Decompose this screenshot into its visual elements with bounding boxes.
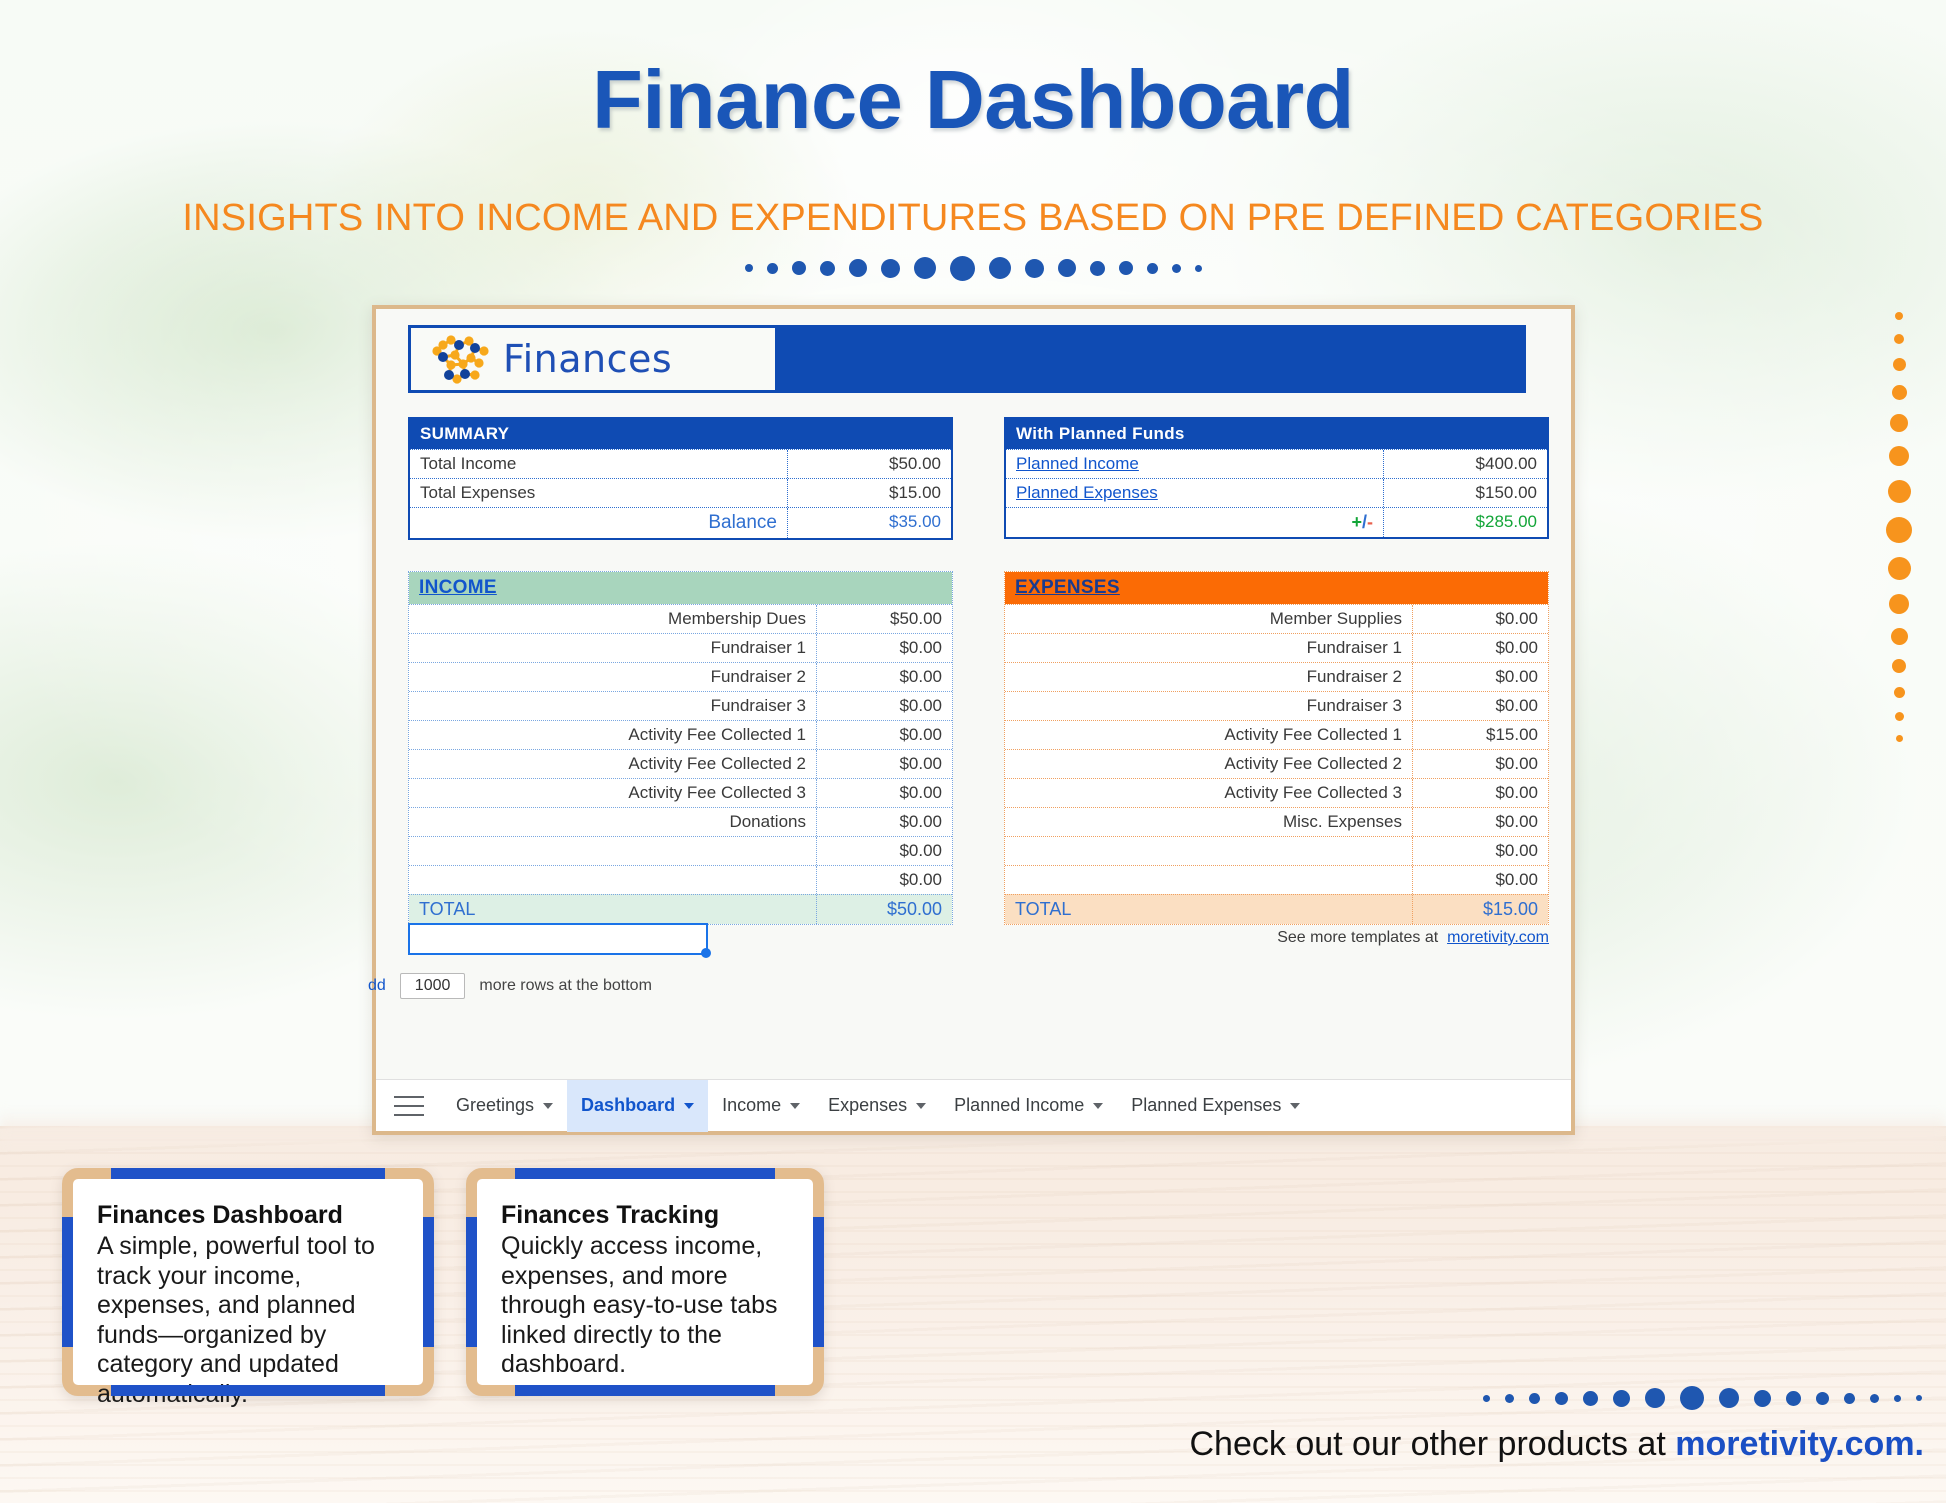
decorative-dot — [1680, 1386, 1704, 1410]
table-row[interactable]: Fundraiser 1$0.00 — [409, 633, 952, 662]
table-row[interactable]: Activity Fee Collected 1$0.00 — [409, 720, 952, 749]
decorative-dot — [1889, 594, 1909, 614]
decorative-dot — [1890, 414, 1908, 432]
decorative-dot — [1894, 687, 1905, 698]
income-total-label: TOTAL — [409, 895, 817, 924]
table-row[interactable]: Activity Fee Collected 3$0.00 — [1005, 778, 1548, 807]
minus-sign: - — [1367, 512, 1373, 532]
sheet-tab-income[interactable]: Income — [708, 1080, 814, 1132]
income-table: INCOME Membership Dues$50.00Fundraiser 1… — [408, 571, 953, 925]
sheet-tab-expenses[interactable]: Expenses — [814, 1080, 940, 1132]
table-row[interactable]: Fundraiser 3$0.00 — [1005, 691, 1548, 720]
income-total-row: TOTAL $50.00 — [409, 894, 952, 924]
decorative-dot — [1555, 1392, 1568, 1405]
row-value: $0.00 — [1413, 605, 1548, 633]
network-logo-icon — [429, 331, 493, 387]
sheet-tab-greetings[interactable]: Greetings — [442, 1080, 567, 1132]
moretivity-link[interactable]: moretivity.com — [1447, 929, 1549, 946]
row-value: $0.00 — [1413, 634, 1548, 662]
add-label[interactable]: dd — [368, 977, 386, 995]
row-value: $0.00 — [1413, 692, 1548, 720]
table-row[interactable]: Fundraiser 2$0.00 — [409, 662, 952, 691]
chevron-down-icon[interactable] — [1093, 1103, 1103, 1109]
decorative-dot — [1195, 265, 1202, 272]
decorative-dot — [767, 263, 778, 274]
decorative-dot — [1916, 1395, 1922, 1401]
planned-difference-value: $285.00 — [1384, 508, 1547, 537]
decorative-dot — [1058, 259, 1076, 277]
plus-sign: + — [1351, 512, 1362, 532]
selected-cell[interactable] — [408, 923, 708, 955]
decorative-dot — [792, 261, 806, 275]
planned-title: With Planned Funds — [1006, 419, 1547, 449]
table-row[interactable]: Donations$0.00 — [409, 807, 952, 836]
row-label: Fundraiser 1 — [409, 634, 817, 662]
spreadsheet-screenshot: Finances SUMMARY Total Income $50.00 Tot… — [372, 305, 1575, 1135]
row-value: $0.00 — [817, 750, 952, 778]
decorative-dot — [1119, 261, 1133, 275]
row-label: Misc. Expenses — [1005, 808, 1413, 836]
decorative-dot — [1816, 1392, 1829, 1405]
row-label: Donations — [409, 808, 817, 836]
decorative-dot — [1090, 261, 1105, 276]
summary-row-value: $15.00 — [788, 479, 951, 507]
promo-prefix: Check out our other products at — [1190, 1425, 1676, 1463]
decorative-dot — [1172, 264, 1181, 273]
card-title: Finances Tracking — [501, 1201, 789, 1230]
decorative-dot — [914, 257, 936, 279]
feature-card-dashboard: Finances Dashboard A simple, powerful to… — [62, 1168, 434, 1396]
sheet-tab-planned-expenses[interactable]: Planned Expenses — [1117, 1080, 1314, 1132]
row-value: $15.00 — [1413, 721, 1548, 749]
decorative-dot — [1147, 263, 1158, 274]
decorative-dot — [1891, 628, 1908, 645]
expenses-rows: Member Supplies$0.00Fundraiser 1$0.00Fun… — [1005, 604, 1548, 894]
table-row[interactable]: $0.00 — [1005, 865, 1548, 894]
decorative-dot — [1025, 259, 1044, 278]
planned-expenses-link[interactable]: Planned Expenses — [1016, 483, 1158, 502]
sheet-tab-dashboard[interactable]: Dashboard — [567, 1080, 708, 1132]
decorative-dot — [820, 261, 835, 276]
row-value: $0.00 — [817, 808, 952, 836]
row-label: Activity Fee Collected 3 — [1005, 779, 1413, 807]
sheet-tab-label: Income — [722, 1095, 781, 1116]
sheet-tabs: GreetingsDashboardIncomeExpensesPlanned … — [442, 1080, 1314, 1132]
sheet-tab-label: Dashboard — [581, 1095, 675, 1116]
decorative-dot — [1896, 735, 1903, 742]
sheet-tab-label: Planned Income — [954, 1095, 1084, 1116]
row-label: Fundraiser 3 — [409, 692, 817, 720]
decorative-dot — [1754, 1390, 1771, 1407]
summary-row-value: $50.00 — [788, 450, 951, 478]
planned-row-value: $400.00 — [1384, 450, 1547, 478]
table-row-balance[interactable]: Balance $35.00 — [410, 507, 951, 538]
decorative-dot-column — [1886, 312, 1912, 742]
add-rows-input[interactable]: 1000 — [400, 973, 466, 999]
decorative-dot — [1894, 1395, 1901, 1402]
decorative-dot — [1895, 712, 1904, 721]
chevron-down-icon[interactable] — [684, 1103, 694, 1109]
table-row[interactable]: Planned Income $400.00 — [1006, 449, 1547, 478]
summary-title: SUMMARY — [410, 419, 951, 449]
decorative-dot — [1894, 334, 1904, 344]
decorative-dot — [950, 256, 975, 281]
card-bar-right — [423, 1217, 434, 1347]
planned-income-link[interactable]: Planned Income — [1016, 454, 1139, 473]
row-label — [1005, 837, 1413, 865]
page-subtitle: INSIGHTS INTO INCOME AND EXPENDITURES BA… — [0, 197, 1946, 240]
expenses-table: EXPENSES Member Supplies$0.00Fundraiser … — [1004, 571, 1549, 925]
decorative-dot — [849, 259, 867, 277]
row-label: Fundraiser 2 — [409, 663, 817, 691]
expenses-title-link[interactable]: EXPENSES — [1015, 577, 1120, 598]
decorative-dot — [1786, 1391, 1801, 1406]
table-row[interactable]: Fundraiser 3$0.00 — [409, 691, 952, 720]
row-value: $0.00 — [817, 866, 952, 894]
expenses-total-label: TOTAL — [1005, 895, 1413, 924]
promo-link[interactable]: moretivity.com. — [1675, 1425, 1924, 1463]
page-title: Finance Dashboard — [0, 52, 1946, 148]
card-bar-right — [813, 1217, 824, 1347]
summary-row-label: Total Expenses — [410, 479, 788, 507]
table-row[interactable]: Activity Fee Collected 1$15.00 — [1005, 720, 1548, 749]
expenses-total-row: TOTAL $15.00 — [1005, 894, 1548, 924]
row-value: $0.00 — [817, 692, 952, 720]
decorative-dot — [1613, 1390, 1630, 1407]
all-sheets-icon[interactable] — [394, 1096, 424, 1116]
row-label: Activity Fee Collected 1 — [1005, 721, 1413, 749]
balance-label: Balance — [410, 508, 788, 538]
more-templates-prefix: See more templates at — [1277, 929, 1438, 946]
sheet-tab-label: Greetings — [456, 1095, 534, 1116]
planned-funds-table: With Planned Funds Planned Income $400.0… — [1004, 417, 1549, 539]
decorative-dot — [881, 259, 900, 278]
income-rows: Membership Dues$50.00Fundraiser 1$0.00Fu… — [409, 604, 952, 894]
decorative-dot — [1870, 1394, 1879, 1403]
decorative-dot — [989, 257, 1011, 279]
row-label: Fundraiser 2 — [1005, 663, 1413, 691]
sheet-tab-label: Expenses — [828, 1095, 907, 1116]
sheet-tab-bar: GreetingsDashboardIncomeExpensesPlanned … — [376, 1079, 1571, 1131]
table-row[interactable]: Fundraiser 2$0.00 — [1005, 662, 1548, 691]
row-value: $0.00 — [1413, 750, 1548, 778]
row-value: $0.00 — [817, 837, 952, 865]
add-rows-suffix: more rows at the bottom — [479, 977, 652, 995]
card-bar-top — [515, 1168, 775, 1179]
card-title: Finances Dashboard — [97, 1201, 399, 1230]
decorative-dot-row-bottom — [1483, 1386, 1922, 1410]
row-value: $0.00 — [817, 634, 952, 662]
row-label: Fundraiser 3 — [1005, 692, 1413, 720]
summary-row-label: Total Income — [410, 450, 788, 478]
row-label — [1005, 866, 1413, 894]
sheet-tab-planned-income[interactable]: Planned Income — [940, 1080, 1117, 1132]
logo-cell: Finances — [408, 325, 778, 393]
decorative-dot — [1888, 557, 1911, 580]
table-row[interactable]: $0.00 — [409, 836, 952, 865]
expenses-total-value: $15.00 — [1413, 895, 1548, 924]
table-row[interactable]: Fundraiser 1$0.00 — [1005, 633, 1548, 662]
decorative-dot — [1645, 1388, 1665, 1408]
logo-text: Finances — [503, 337, 672, 381]
income-total-value: $50.00 — [817, 895, 952, 924]
decorative-dot-row — [0, 255, 1946, 281]
chevron-down-icon[interactable] — [543, 1103, 553, 1109]
planned-row-value: $150.00 — [1384, 479, 1547, 507]
table-row[interactable]: $0.00 — [1005, 836, 1548, 865]
decorative-dot — [1529, 1393, 1540, 1404]
table-row[interactable]: Member Supplies$0.00 — [1005, 604, 1548, 633]
decorative-dot — [1889, 446, 1909, 466]
row-value: $0.00 — [1413, 779, 1548, 807]
row-value: $50.00 — [817, 605, 952, 633]
decorative-dot — [1483, 1395, 1490, 1402]
row-label: Fundraiser 1 — [1005, 634, 1413, 662]
chevron-down-icon[interactable] — [916, 1103, 926, 1109]
row-value: $0.00 — [1413, 866, 1548, 894]
card-bar-top — [111, 1168, 385, 1179]
table-row[interactable]: Activity Fee Collected 2$0.00 — [1005, 749, 1548, 778]
income-title: INCOME — [409, 572, 952, 604]
row-value: $0.00 — [1413, 837, 1548, 865]
row-value: $0.00 — [817, 663, 952, 691]
table-row[interactable]: $0.00 — [409, 865, 952, 894]
row-value: $0.00 — [817, 779, 952, 807]
chevron-down-icon[interactable] — [1290, 1103, 1300, 1109]
expenses-title: EXPENSES — [1005, 572, 1548, 604]
row-label: Member Supplies — [1005, 605, 1413, 633]
decorative-dot — [1892, 385, 1907, 400]
decorative-dot — [1844, 1393, 1855, 1404]
fill-handle[interactable] — [701, 948, 711, 958]
more-templates-note: See more templates at moretivity.com — [1277, 929, 1549, 947]
row-value: $0.00 — [1413, 663, 1548, 691]
row-label: Activity Fee Collected 2 — [1005, 750, 1413, 778]
summary-table: SUMMARY Total Income $50.00 Total Expens… — [408, 417, 953, 540]
table-row[interactable]: Total Income $50.00 — [410, 449, 951, 478]
decorative-dot — [1886, 517, 1912, 543]
row-label: Activity Fee Collected 3 — [409, 779, 817, 807]
card-bar-left — [466, 1217, 477, 1347]
card-text: A simple, powerful tool to track your in… — [97, 1232, 399, 1409]
feature-card-tracking: Finances Tracking Quickly access income,… — [466, 1168, 824, 1396]
table-row[interactable]: Activity Fee Collected 3$0.00 — [409, 778, 952, 807]
decorative-dot — [745, 264, 753, 272]
table-row[interactable]: Activity Fee Collected 2$0.00 — [409, 749, 952, 778]
row-label: Activity Fee Collected 1 — [409, 721, 817, 749]
row-value: $0.00 — [1413, 808, 1548, 836]
card-bar-bottom — [515, 1385, 775, 1396]
row-value: $0.00 — [817, 721, 952, 749]
row-label: Activity Fee Collected 2 — [409, 750, 817, 778]
decorative-dot — [1583, 1391, 1598, 1406]
table-row[interactable]: Misc. Expenses$0.00 — [1005, 807, 1548, 836]
decorative-dot — [1895, 312, 1903, 320]
promo-text: Check out our other products at moretivi… — [1190, 1425, 1925, 1464]
poster-canvas: Finance Dashboard INSIGHTS INTO INCOME A… — [0, 0, 1946, 1503]
table-row[interactable]: Total Expenses $15.00 — [410, 478, 951, 507]
table-row-difference[interactable]: +/- $285.00 — [1006, 507, 1547, 537]
table-row[interactable]: Planned Expenses $150.00 — [1006, 478, 1547, 507]
balance-value: $35.00 — [788, 508, 951, 538]
chevron-down-icon[interactable] — [790, 1103, 800, 1109]
row-label: Membership Dues — [409, 605, 817, 633]
card-text: Quickly access income, expenses, and mor… — [501, 1232, 789, 1380]
income-title-link[interactable]: INCOME — [419, 577, 497, 598]
row-label — [409, 837, 817, 865]
decorative-dot — [1505, 1394, 1514, 1403]
decorative-dot — [1892, 659, 1906, 673]
table-row[interactable]: Membership Dues$50.00 — [409, 604, 952, 633]
card-bar-bottom — [111, 1385, 385, 1396]
card-bar-left — [62, 1217, 73, 1347]
sheet-tab-label: Planned Expenses — [1131, 1095, 1281, 1116]
sheet-banner: Finances — [408, 325, 1526, 393]
add-rows-control: dd 1000 more rows at the bottom — [368, 969, 1571, 1003]
row-label — [409, 866, 817, 894]
decorative-dot — [1893, 358, 1906, 371]
decorative-dot — [1888, 480, 1911, 503]
decorative-dot — [1719, 1388, 1739, 1408]
